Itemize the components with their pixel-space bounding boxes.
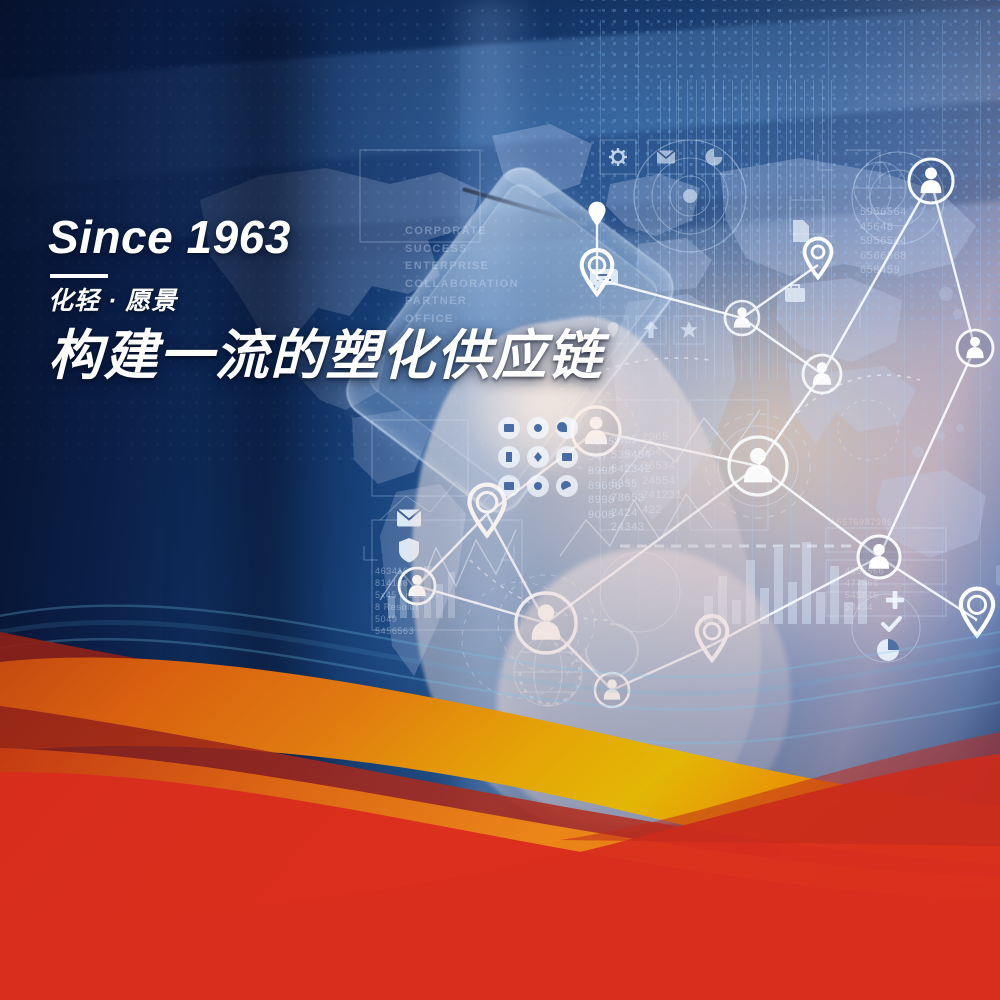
data-value: 4656566 bbox=[845, 565, 884, 577]
data-column-3: 2965 954 36534 24554 241231 422 bbox=[642, 430, 682, 517]
wave-decoration bbox=[0, 620, 1000, 1000]
data-value: 2965 bbox=[642, 430, 682, 445]
data-value: 24343 bbox=[611, 520, 651, 535]
data-value: 5956564 bbox=[860, 234, 907, 249]
data-column-4: 5956564 45648 5956564 6566568 658459 bbox=[860, 205, 907, 278]
data-value: 422 bbox=[642, 503, 682, 518]
gear-icon bbox=[609, 148, 627, 166]
user-node-9 bbox=[957, 330, 993, 366]
data-value: 6566568 bbox=[860, 249, 907, 264]
data-value: A5576987986 bbox=[830, 515, 893, 530]
user-node-6 bbox=[803, 355, 841, 393]
since-label: Since 1963 bbox=[48, 214, 603, 260]
data-value: 241231 bbox=[642, 488, 682, 503]
data-value: 36534 bbox=[642, 459, 682, 474]
icon-row-top bbox=[609, 148, 723, 166]
data-value: 545646 bbox=[845, 589, 884, 601]
user-node-8 bbox=[909, 159, 953, 203]
vision-label: 化轻 · 愿景 bbox=[48, 287, 603, 316]
data-column-7: A5576987986 bbox=[830, 515, 893, 530]
data-value: 954 bbox=[642, 445, 682, 460]
data-value: 814136 bbox=[375, 577, 439, 589]
data-value: 5956564 bbox=[860, 205, 907, 220]
headline-title: 构建一流的塑化供应链 bbox=[48, 327, 603, 386]
divider-rule bbox=[50, 274, 108, 278]
upload-arrow-icon bbox=[644, 321, 658, 338]
data-value: 463416 bbox=[375, 565, 439, 577]
briefcase-icon bbox=[785, 285, 805, 302]
user-node-5 bbox=[729, 437, 787, 495]
data-column-5: 4656566 477566 545646 53434 bbox=[845, 565, 884, 613]
data-value: 5x45 Lief sets bbox=[375, 589, 439, 601]
user-node-7 bbox=[725, 301, 759, 335]
data-value: 53434 bbox=[845, 601, 884, 613]
data-value: 477566 bbox=[845, 577, 884, 589]
data-value: 8 Resolut bbox=[375, 601, 439, 613]
document-icon bbox=[793, 220, 809, 242]
envelope-icon bbox=[657, 151, 675, 164]
hero-banner: CORPORATE SUCCESS ENTERPRISE COLLABORATI… bbox=[0, 0, 1000, 1000]
pie-chart-icon bbox=[706, 149, 723, 166]
star-icon bbox=[680, 321, 698, 338]
hero-copy-block: Since 1963 化轻 · 愿景 构建一流的塑化供应链 bbox=[48, 214, 603, 386]
data-value: 24554 bbox=[642, 474, 682, 489]
app-icon-grid bbox=[493, 412, 583, 502]
data-value: 45648 bbox=[860, 220, 907, 235]
data-value: 658459 bbox=[860, 263, 907, 278]
